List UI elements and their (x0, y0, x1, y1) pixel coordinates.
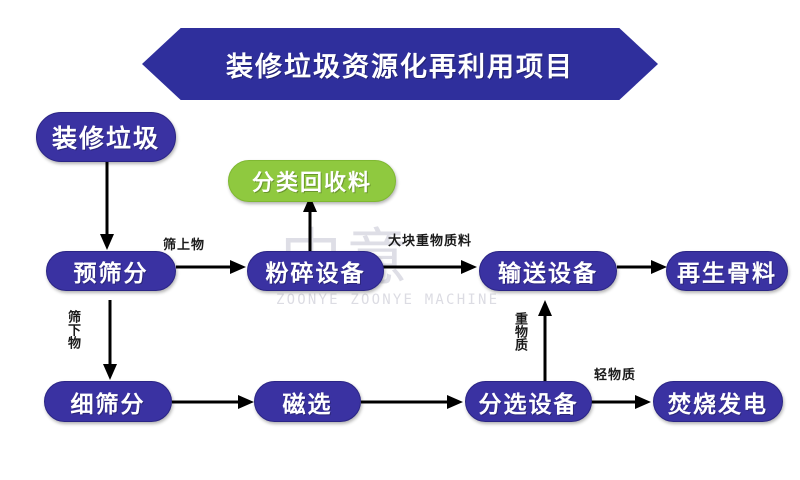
connector-n3-n5 (383, 256, 479, 278)
node-decoration-waste[interactable]: 装修垃圾 (36, 112, 176, 162)
node-crushing-equipment[interactable]: 粉碎设备 (247, 251, 384, 291)
connector-n2-n3 (176, 256, 248, 278)
connector-n9-n5 (535, 300, 557, 382)
connector-n2-n7 (100, 300, 122, 382)
node-incineration-power[interactable]: 焚烧发电 (653, 381, 783, 422)
edge-label-screen-under: 筛下物 (66, 310, 79, 349)
connector-n3-n4 (300, 196, 322, 252)
connector-n9-n10 (591, 391, 653, 413)
node-sorting-equipment[interactable]: 分选设备 (465, 381, 592, 422)
node-sorted-recyclables[interactable]: 分类回收料 (228, 160, 396, 202)
node-conveying-equipment[interactable]: 输送设备 (479, 251, 617, 291)
connector-n7-n8 (172, 391, 256, 413)
connector-n5-n6 (617, 256, 669, 278)
edge-label-light: 轻物质 (594, 364, 636, 383)
node-recycled-aggregate[interactable]: 再生骨料 (666, 251, 788, 291)
node-magnetic-separation[interactable]: 磁选 (254, 381, 361, 422)
node-pre-screening[interactable]: 预筛分 (46, 251, 176, 291)
edge-label-bulk-heavy: 大块重物质料 (388, 230, 472, 249)
edge-label-heavy: 重物质 (513, 312, 526, 351)
flowchart-canvas: 中意 ZOONYE ZOONYE MACHINE 装修垃圾资源化再利用项目 (0, 0, 800, 480)
title-banner-text: 装修垃圾资源化再利用项目 (226, 45, 574, 84)
connector-n1-n2 (96, 160, 120, 252)
connector-n8-n9 (361, 391, 465, 413)
title-banner: 装修垃圾资源化再利用项目 (142, 28, 658, 100)
edge-label-screen-over: 筛上物 (163, 234, 205, 253)
node-fine-screening[interactable]: 细筛分 (44, 381, 172, 422)
watermark-text: ZOONYE ZOONYE MACHINE (276, 292, 499, 308)
